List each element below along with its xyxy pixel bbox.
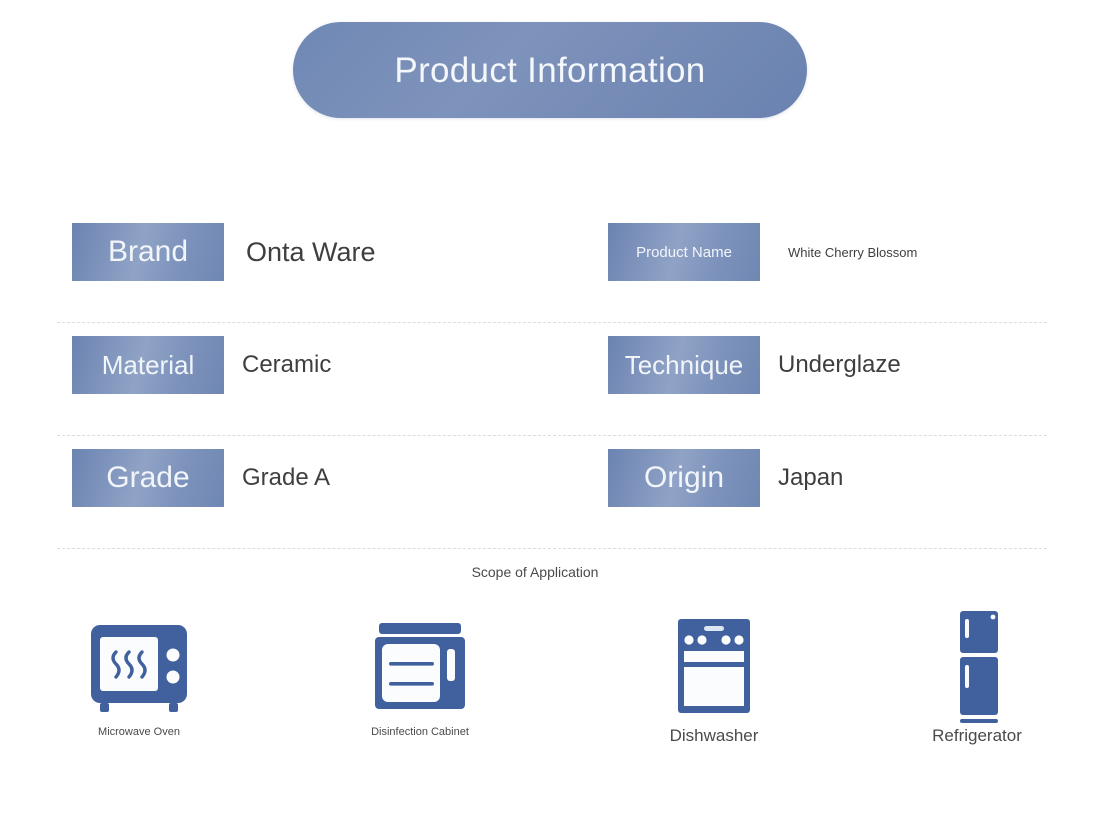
- dishwasher-icon: [661, 608, 767, 726]
- page-header: Product Information: [0, 22, 1100, 118]
- spec-label-material: Material: [72, 336, 224, 394]
- refrigerator-icon: [924, 608, 1030, 726]
- spec-cell-brand: Brand Onta Ware: [72, 223, 376, 281]
- appliance-item-microwave-oven: Microwave Oven: [49, 608, 229, 738]
- spec-row: Brand Onta Ware Product Name White Cherr…: [57, 210, 1047, 323]
- spec-value-material: Ceramic: [242, 351, 331, 379]
- spec-value-brand: Onta Ware: [246, 237, 376, 268]
- spec-label-technique: Technique: [608, 336, 760, 394]
- spec-value-origin: Japan: [778, 464, 843, 492]
- appliance-item-disinfection-cabinet: Disinfection Cabinet: [330, 608, 510, 738]
- spec-row: Grade Grade A Origin Japan: [57, 436, 1047, 549]
- spec-cell-technique: Technique Underglaze: [608, 336, 901, 394]
- microwave-oven-icon: [86, 608, 192, 726]
- disinfection-cabinet-icon: [367, 608, 473, 726]
- appliance-label-refrigerator: Refrigerator: [932, 726, 1022, 746]
- spec-label-grade: Grade: [72, 449, 224, 507]
- spec-value-product-name: White Cherry Blossom: [788, 245, 917, 260]
- spec-label-product-name: Product Name: [608, 223, 760, 281]
- spec-value-technique: Underglaze: [778, 351, 901, 379]
- appliance-label-disinfection-cabinet: Disinfection Cabinet: [371, 726, 469, 738]
- appliance-item-dishwasher: Dishwasher: [624, 608, 804, 746]
- spec-value-grade: Grade A: [242, 464, 330, 492]
- product-spec-table: Brand Onta Ware Product Name White Cherr…: [57, 210, 1047, 549]
- spec-label-origin: Origin: [608, 449, 760, 507]
- scope-of-application-title: Scope of Application: [0, 564, 1070, 580]
- appliance-list: Microwave Oven Disinfection Cabinet: [57, 608, 1047, 808]
- appliance-label-dishwasher: Dishwasher: [670, 726, 759, 746]
- appliance-item-refrigerator: Refrigerator: [887, 608, 1067, 746]
- spec-row: Material Ceramic Technique Underglaze: [57, 323, 1047, 436]
- spec-label-brand: Brand: [72, 223, 224, 281]
- spec-cell-material: Material Ceramic: [72, 336, 331, 394]
- appliance-label-microwave-oven: Microwave Oven: [98, 726, 180, 738]
- header-pill: Product Information: [293, 22, 807, 118]
- spec-cell-grade: Grade Grade A: [72, 449, 330, 507]
- row-divider: [57, 548, 1047, 549]
- page-title: Product Information: [394, 53, 705, 88]
- spec-cell-product-name: Product Name White Cherry Blossom: [608, 223, 917, 281]
- spec-cell-origin: Origin Japan: [608, 449, 843, 507]
